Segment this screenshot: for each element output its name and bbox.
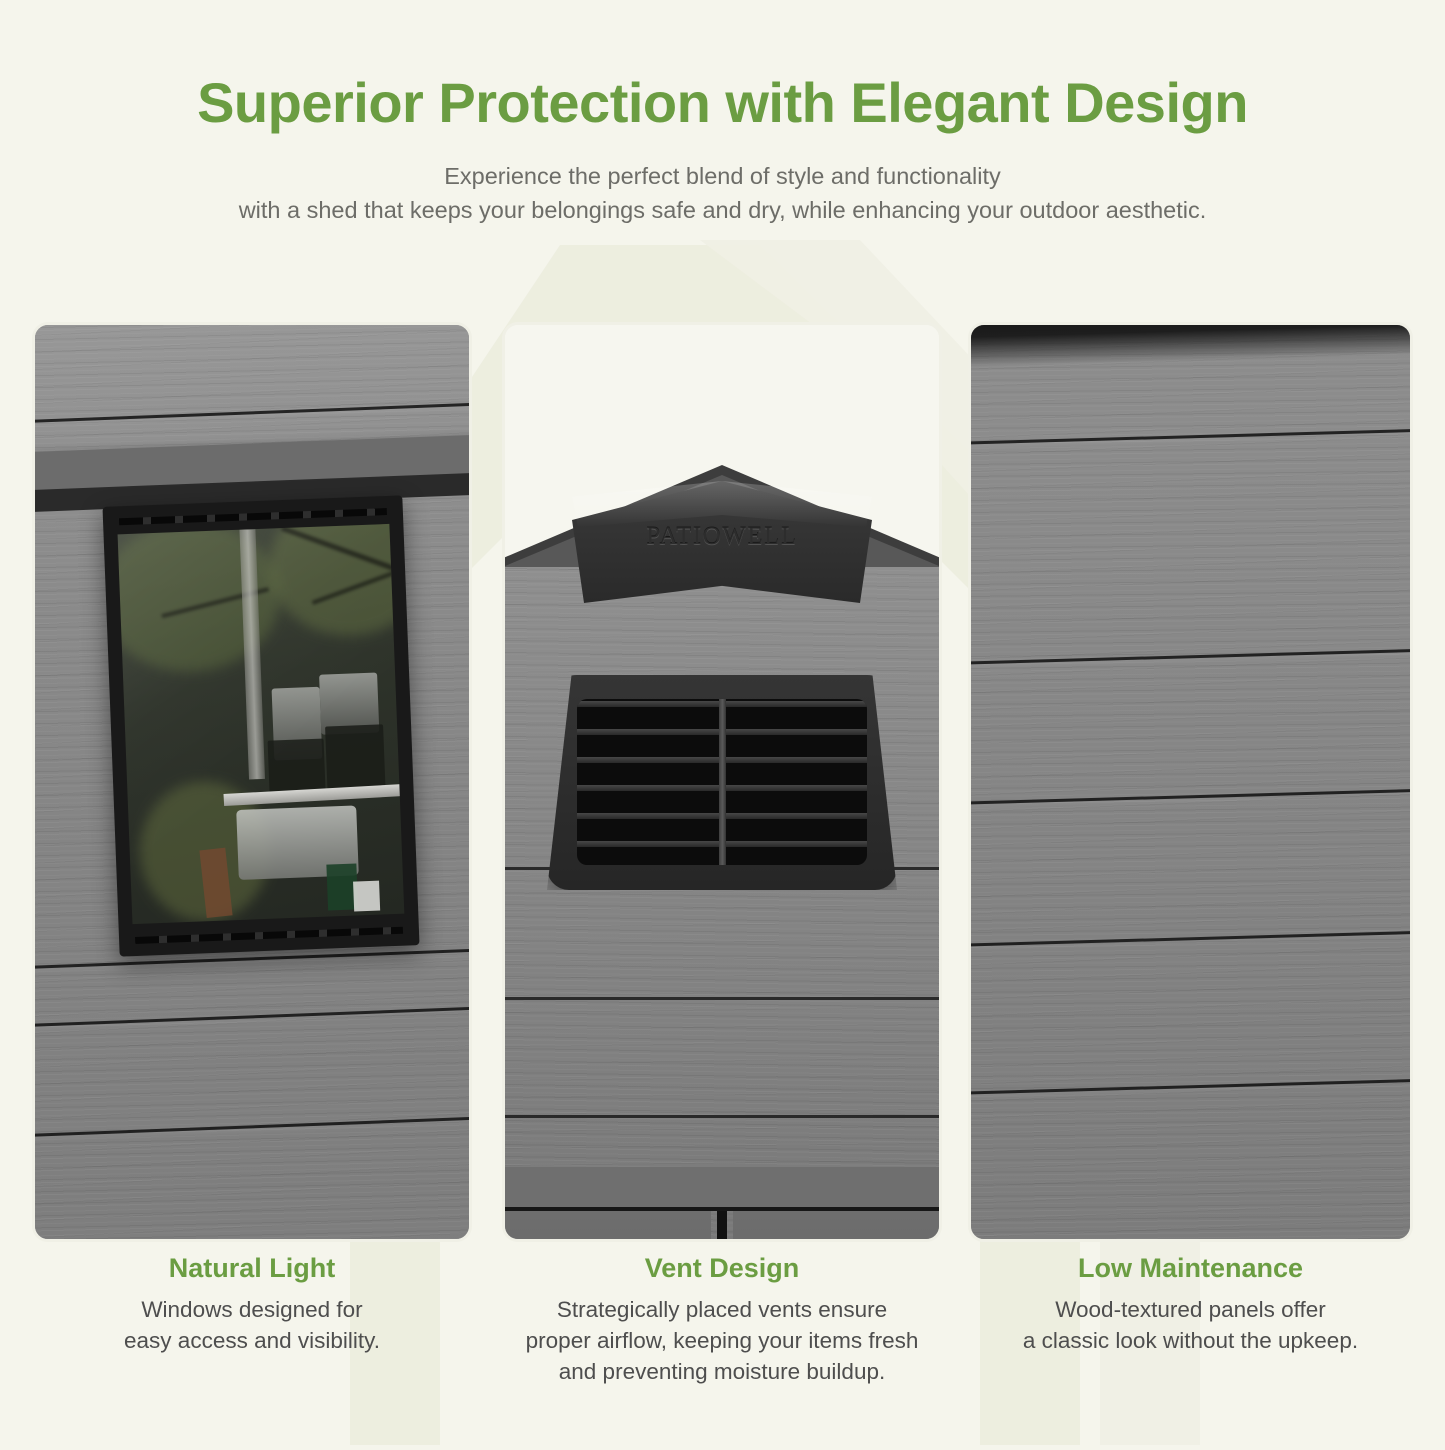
caption-body: Strategically placed vents ensure proper… (490, 1284, 954, 1387)
caption-body: Windows designed for easy access and vis… (32, 1284, 472, 1356)
subtitle-line-2: with a shed that keeps your belongings s… (0, 193, 1445, 227)
glass-sheen (118, 524, 405, 924)
feature-card-row: PATIOWELL (0, 322, 1445, 1242)
caption-vent-design: Vent Design Strategically placed vents e… (490, 1252, 954, 1388)
window-vent-slots-top (119, 508, 387, 525)
window-glass (118, 524, 405, 924)
gable-wall (505, 567, 939, 1239)
caption-line: easy access and visibility. (32, 1325, 472, 1356)
natural-light-photo (35, 325, 469, 1239)
vent-design-photo: PATIOWELL (505, 325, 939, 1239)
brand-emboss-patiowell: PATIOWELL (572, 523, 872, 551)
caption-natural-light: Natural Light Windows designed for easy … (32, 1252, 472, 1356)
caption-low-maintenance: Low Maintenance Wood-textured panels off… (968, 1252, 1413, 1356)
feature-image-vent-design[interactable]: PATIOWELL (502, 322, 942, 1242)
shed-gable: PATIOWELL (505, 475, 939, 1239)
feature-image-natural-light[interactable] (32, 322, 472, 1242)
header: Superior Protection with Elegant Design … (0, 0, 1445, 227)
caption-line: Wood-textured panels offer (968, 1294, 1413, 1325)
feature-image-low-maintenance[interactable] (968, 322, 1413, 1242)
wood-grain-texture-secondary (505, 567, 939, 1239)
low-maintenance-photo (971, 325, 1410, 1239)
page-title: Superior Protection with Elegant Design (0, 0, 1445, 133)
caption-title: Natural Light (32, 1252, 472, 1284)
siding-seam (505, 997, 939, 1000)
caption-body: Wood-textured panels offer a classic loo… (968, 1284, 1413, 1356)
caption-line: Strategically placed vents ensure (490, 1294, 954, 1325)
page-subtitle: Experience the perfect blend of style an… (0, 133, 1445, 227)
door-center-gap (717, 1211, 727, 1239)
shed-door-right (733, 1211, 939, 1239)
caption-line: proper airflow, keeping your items fresh (490, 1325, 954, 1356)
feature-caption-row: Natural Light Windows designed for easy … (0, 1252, 1445, 1442)
window-vent-slots-bottom (135, 927, 403, 944)
caption-line: Windows designed for (32, 1294, 472, 1325)
siding-wall (971, 325, 1410, 1239)
caption-title: Vent Design (490, 1252, 954, 1284)
subtitle-line-1: Experience the perfect blend of style an… (0, 159, 1445, 193)
door-header-trim (505, 1167, 939, 1211)
caption-line: a classic look without the upkeep. (968, 1325, 1413, 1356)
shed-door-left (505, 1211, 711, 1239)
vent-center-divider (719, 699, 726, 865)
siding-seam (505, 1115, 939, 1118)
vent-louver-grid (577, 699, 867, 865)
window-frame (102, 495, 419, 956)
caption-title: Low Maintenance (968, 1252, 1413, 1284)
roof-vent (547, 675, 897, 890)
roof-peak-cap: PATIOWELL (572, 481, 872, 603)
wood-grain-texture-secondary (971, 325, 1410, 1239)
caption-line: and preventing moisture buildup. (490, 1356, 954, 1387)
